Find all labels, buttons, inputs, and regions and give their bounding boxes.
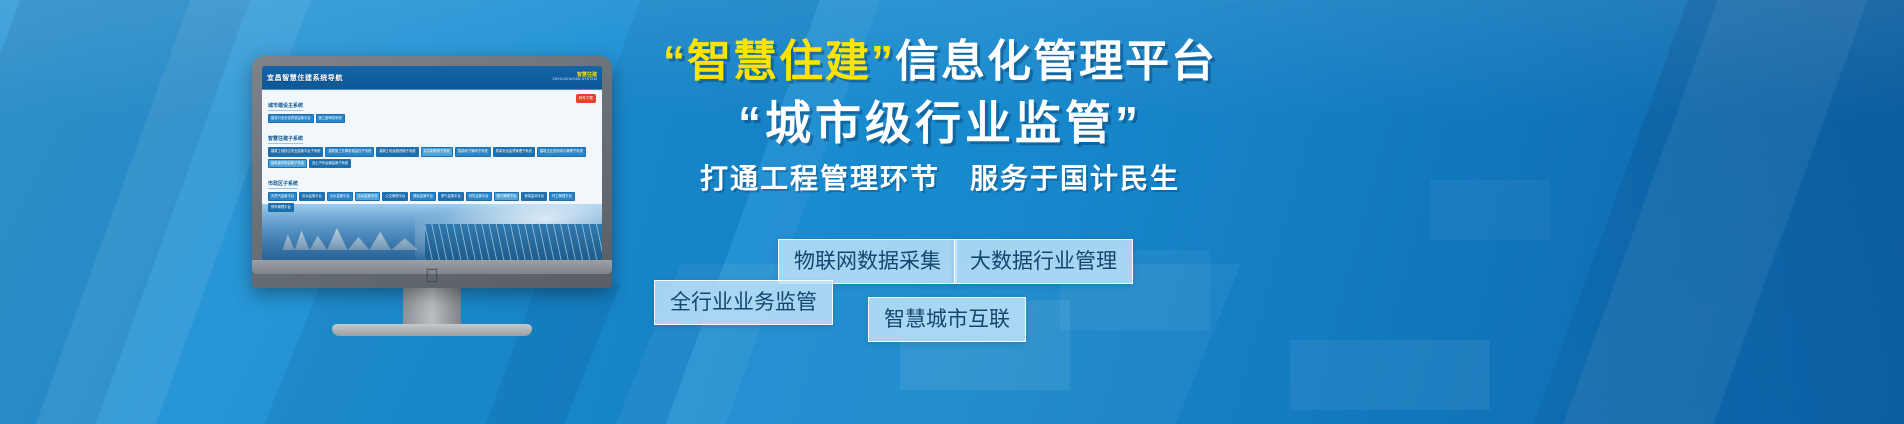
screen-body: 软件下载 城市建设主系统 建设行业安全质量监管平台 施工图审查系统 智慧住建子系… [262,90,602,262]
screen-chip[interactable]: 智能地下管网子系统 [455,147,491,156]
feature-tag-smartcity[interactable]: 智慧城市互联 [868,297,1026,342]
imac-mockup: 宜昌智慧住建系统导航 智慧住建 ZHIHUIZHUJIAN SYSTEM 软件下… [252,56,612,306]
screen-section-title: 城市建设主系统 [268,102,303,111]
screen-chip-group: 天然气监管平台 供水监管平台 污水监管平台 污水监管平台 公交管理平台 绳化监管… [268,192,596,213]
background-diagonal-left [0,0,265,424]
screen-chip[interactable]: 天然气监管平台 [268,192,297,201]
screen-chip[interactable]: 实名制考勤子系统 [421,147,453,156]
screen-chip[interactable]: 污水监管平台 [355,192,381,201]
headline-quote-close: ” [871,37,895,86]
screen-chip[interactable]: 建筑施工升降机械监控子系统 [325,147,374,156]
headline-quote-open: “ [663,37,687,86]
imac-chin:  [252,260,612,274]
screen-chip[interactable]: 建设行业安全质量监管平台 [268,114,314,123]
screen-section-title: 市政区子系统 [268,180,298,189]
promo-banner: 宜昌智慧住建系统导航 智慧住建 ZHIHUIZHUJIAN SYSTEM 软件下… [0,0,1904,424]
screen-chip[interactable]: 质量安全监督管理子系统 [493,147,535,156]
screen-logo: 智慧住建 ZHIHUIZHUJIAN SYSTEM [552,73,597,82]
imac-stand-neck [403,288,461,326]
apple-logo-icon:  [425,267,439,286]
imac-stand-foot [332,324,532,336]
screen-chip-group: 建筑工地扬尘安全监管平台子系统 建筑施工升降机械监控子系统 建筑工地远程视频子系… [268,147,596,168]
screen-header-title: 宜昌智慧住建系统导航 [267,73,343,83]
screen-download-button[interactable]: 软件下载 [576,94,596,103]
screen-sky-clouds [415,204,602,262]
feature-tag-bigdata[interactable]: 大数据行业管理 [954,239,1133,284]
screen-chip[interactable]: 建筑工地扬尘安全监管平台子系统 [268,147,323,156]
screen-panel-list: 城市建设主系统 建设行业安全质量监管平台 施工图审查系统 智慧住建子系统 建筑工… [262,90,602,212]
screen-chip-group: 建设行业安全质量监管平台 施工图审查系统 [268,114,596,123]
screen-chip[interactable]: 路灯管理平台 [494,192,520,201]
feature-tag-allbiz[interactable]: 全行业业务监管 [654,280,833,325]
headline-line-1: “智慧住建”信息化管理平台 [640,38,1240,86]
screen-chip[interactable]: 渣土汽车运输监管子系统 [309,159,351,168]
headline-block: “智慧住建”信息化管理平台 “城市级行业监管” 打通工程管理环节 服务于国计民生 [640,38,1240,196]
feature-tag-iot[interactable]: 物联网数据采集 [778,239,957,284]
screen-section-municipal: 市政区子系统 天然气监管平台 供水监管平台 污水监管平台 污水监管平台 公交管理… [268,172,596,213]
screen-chip[interactable]: 施工图审查系统 [316,114,345,123]
screen-chip[interactable]: 建筑企业信用评价管理子系统 [537,147,586,156]
background-ghost-block-3 [1290,340,1490,410]
imac-screen: 宜昌智慧住建系统导航 智慧住建 ZHIHUIZHUJIAN SYSTEM 软件下… [262,66,602,262]
screen-chip[interactable]: 公交管理平台 [382,192,408,201]
screen-chip[interactable]: 桥梁监测平台 [521,192,547,201]
screen-section-smart: 智慧住建子系统 建筑工地扬尘安全监管平台子系统 建筑施工升降机械监控子系统 建筑… [268,127,596,168]
screen-header: 宜昌智慧住建系统导航 智慧住建 ZHIHUIZHUJIAN SYSTEM [262,66,602,90]
headline-line-3: 打通工程管理环节 服务于国计民生 [640,162,1240,196]
screen-chip[interactable]: 污水监管平台 [327,192,353,201]
screen-city-photo [262,204,602,262]
background-ghost-block-4 [1430,180,1550,240]
headline-highlight: 智慧住建 [687,37,871,86]
imac-body: 宜昌智慧住建系统导航 智慧住建 ZHIHUIZHUJIAN SYSTEM 软件下… [252,56,612,288]
screen-chip[interactable]: 建筑废弃物监管子系统 [268,159,307,168]
screen-section-title: 智慧住建子系统 [268,135,303,144]
screen-chip[interactable]: 燃气监管平台 [438,192,464,201]
headline-line-2: “城市级行业监管” [640,98,1240,149]
screen-logo-en: ZHIHUIZHUJIAN SYSTEM [552,78,597,82]
screen-section-city: 城市建设主系统 建设行业安全质量监管平台 施工图审查系统 [268,94,596,123]
screen-chip[interactable]: 环卫管理平台 [549,192,575,201]
background-diagonal-right [1491,0,1904,424]
screen-chip[interactable]: 停车管理平台 [268,203,294,212]
screen-chip[interactable]: 供热监管平台 [466,192,492,201]
screen-chip[interactable]: 供水监管平台 [299,192,325,201]
headline-rest: 信息化管理平台 [895,37,1217,86]
screen-chip[interactable]: 绳化监管平台 [410,192,436,201]
screen-chip[interactable]: 建筑工地远程视频子系统 [376,147,418,156]
background-diagonal-right-2 [1521,0,1897,424]
